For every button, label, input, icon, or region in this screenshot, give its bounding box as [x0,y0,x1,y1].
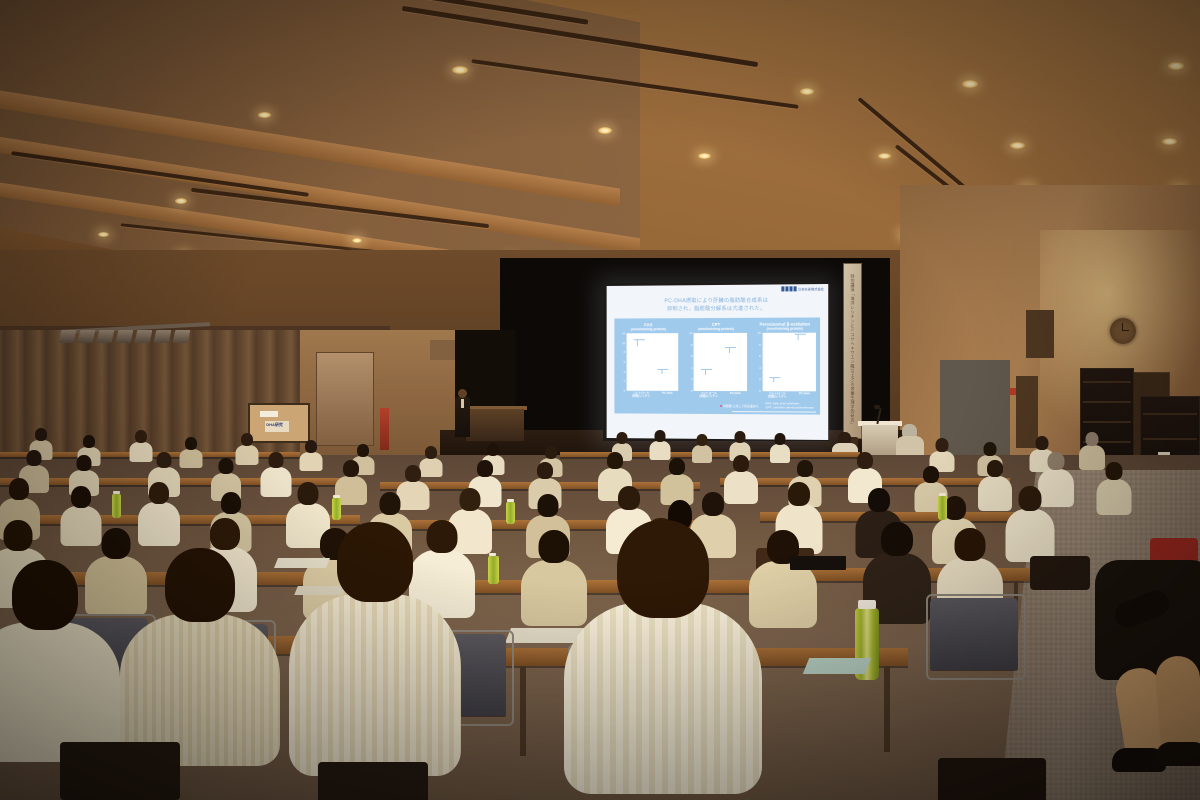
x-label-pcdha: PC-DHA [662,392,673,398]
water-bottle [938,496,947,520]
floor-bag [1030,556,1090,590]
chart-row: FAS (nmol/min/mg protein) 12 10 8 6 4 2 … [618,322,816,399]
downlight [598,127,612,134]
bottle-cap [489,553,496,556]
bar-pcdha [725,350,742,391]
chart-fas: FAS (nmol/min/mg protein) 12 10 8 6 4 2 … [618,322,678,398]
handout-paper-green [803,658,871,674]
plot-area: 12 10 8 6 4 2 0 [618,333,678,391]
downlight [1168,62,1184,70]
floor-bag [938,758,1046,800]
attendee-head [12,560,78,630]
y-tick: 6 [624,360,626,364]
attendee-head [9,478,29,500]
x-label-control: コントロール (対照)レシチン [632,392,650,398]
attendee-foreground-second [130,548,270,763]
y-tick: 0 [691,389,693,393]
attendee-head [425,446,437,459]
attendee-foreground-left [0,560,110,760]
y-axis: 12 10 8 6 4 2 0 [618,333,626,390]
attendee-head [797,460,813,477]
attendee [662,458,692,504]
slide-footnote: FAS, fatty acid synthase; CPT, carnitine… [765,401,814,409]
attendee [1008,486,1052,560]
error-stem [661,370,662,375]
plot-canvas [762,333,816,392]
y-tick: 0 [759,389,761,393]
x-label-sub: (対照)レシチン [632,395,650,398]
attendee-head [545,446,557,459]
attendee-head [669,458,685,475]
plot-area: 10 8 6 4 2 0 [685,333,746,391]
attendee-head [702,492,724,516]
attendee-head [221,492,241,514]
projection-screen: 日本水産株式会社 PC-DHA摂取により肝臓の脂肪酸合成系は 抑制され、脂肪酸分… [603,283,829,441]
footnote-line2: CPT, carnitine palmitoyltransferase [765,405,814,409]
attendee-head [735,431,746,443]
attendee-head [733,455,749,472]
presenter [455,389,470,437]
chart-cpt: CPT (nmol/min/mg protein) 10 8 6 4 2 0 [685,322,746,399]
downlight [878,153,891,159]
attendee-head [857,452,873,469]
error-stem [705,370,706,375]
y-tick: 10 [689,331,692,335]
attendee-head [343,460,359,477]
chair-frame [926,594,1026,680]
downlight [962,80,978,88]
attendee-head [77,455,92,471]
x-axis-labels: コントロール (対照)レシチン PC-DHA [618,392,678,399]
side-door [316,352,374,446]
bar-control [701,372,718,391]
attendee-torso [180,449,203,468]
lectern [466,409,524,441]
attendee-head [102,528,131,559]
attendee-head [357,444,369,457]
attendee-head [405,465,421,482]
attendee-head [539,530,570,563]
error-cap [770,377,781,378]
attendee-head [477,460,493,477]
attendee [770,433,790,462]
attendee-torso [261,467,292,497]
downlight [452,66,468,74]
x-axis-labels: コントロール (対照)レシチン PC-DHA [685,392,746,399]
error-stem [773,378,774,382]
error-cap [725,346,736,347]
attendee [300,440,322,470]
attendee-head [219,458,234,474]
slide-surface: 日本水産株式会社 PC-DHA摂取により肝臓の脂肪酸合成系は 抑制され、脂肪酸分… [607,284,829,440]
significance-marker-icon [720,405,722,407]
attendee-head [984,442,997,456]
y-axis: 10 8 6 4 2 0 [754,333,762,391]
y-tick: 2 [691,377,693,381]
spotlight-fixture [97,330,115,343]
chart-peroxisomal: Peroxisomal β-oxidation (nmol/min/mg pro… [754,322,816,399]
attendee-head [4,520,33,551]
attendee-head [460,488,481,511]
table-leg [884,666,890,752]
y-tick: 4 [691,366,693,370]
downlight [800,88,814,95]
attendee-torso [289,594,461,776]
error-cap [701,369,712,370]
attendee-torso [564,602,762,794]
water-bottle [112,494,121,518]
attendee-head [1048,452,1065,470]
attendee-head [337,522,413,602]
water-bottle [332,498,341,520]
water-bottle [506,502,515,524]
downlight [175,198,187,204]
y-tick: 10 [622,341,625,345]
downlight [698,153,711,159]
attendee-foreground-center [578,520,748,790]
shoe-icon [1156,742,1200,766]
error-stem [637,340,638,346]
bar-pcdha [657,372,674,391]
attendee-head [617,520,709,618]
attendee-head [157,452,172,468]
plot-area: 10 8 6 4 2 0 [754,333,816,392]
chart-subtitle: (nmol/min/mg protein) [754,327,816,331]
attendee-head [987,460,1003,477]
slide-logo: 日本水産株式会社 [782,286,824,291]
attendee [980,460,1010,510]
spotlight-fixture [173,330,191,343]
attendee-torso [978,476,1012,511]
monitor-label: DHA研究 [266,422,283,428]
error-stem [729,347,730,353]
attendee-head [241,433,253,446]
attendee-head [185,437,197,450]
bottle-cap [113,491,120,494]
error-stem [798,334,799,339]
y-tick: 4 [759,366,761,370]
y-axis: 10 8 6 4 2 0 [685,333,693,391]
attendee-head [269,452,284,468]
presenter-head [458,389,467,398]
chart-subtitle: (nmol/min/mg protein) [618,327,678,331]
attendee-head [881,522,913,556]
banner-text: 特別講演「海洋レシチンとドコサヘキサエン酸(DHA)の栄養生理学的研究」 [850,274,856,427]
plot-canvas [693,333,746,391]
y-tick: 6 [759,354,761,358]
slide-significance-note: 対照群 に対して有意差あり [720,404,759,408]
attendee-torso [0,622,120,762]
attendee-foreground-third [300,522,450,772]
attendee-head [380,492,401,515]
presenter-shirt [461,399,464,408]
attendee-head [487,443,499,456]
attendee-head [1086,432,1099,446]
bottle-cap [858,600,876,609]
attendee-head [298,482,319,505]
y-tick: 6 [691,354,693,358]
attendee-head [923,466,939,483]
bottle-cap [333,495,340,498]
downlight [258,112,271,118]
y-tick: 4 [624,370,626,374]
downlight [1010,142,1025,149]
attendee [650,430,670,460]
attendee [140,482,178,544]
attendee-head [71,486,91,508]
attendee-torso [1006,509,1055,562]
attendee-head [955,528,986,561]
spotlight-fixture [154,330,172,343]
water-bottle [488,556,499,584]
slide-chart-panel: FAS (nmol/min/mg protein) 12 10 8 6 4 2 … [614,317,820,414]
attendee-head [537,462,553,479]
bar-pcdha [794,337,811,392]
laser-pointer-line [732,412,815,413]
slide-logo-text: 日本水産株式会社 [798,287,824,291]
microphone-icon [874,405,880,409]
bottle-cap [939,493,946,496]
red-flag-banner [380,408,389,450]
attendee-torso [138,502,180,546]
attendee-head [538,494,559,517]
y-tick: 12 [622,331,625,335]
y-tick: 2 [624,379,626,383]
attendee-head [944,496,966,520]
x-label-sub: (対照)レシチン [768,395,787,398]
attendee-head [27,450,42,466]
spotlight-track [60,330,205,344]
x-label-control: コントロール (対照)レシチン [768,392,787,399]
spotlight-fixture [135,330,153,343]
attendee-head [210,518,240,550]
error-cap [634,339,645,340]
spotlight-fixture [59,330,77,343]
spotlight-fixture [78,330,96,343]
attendee-head [655,430,666,442]
downlight [1162,138,1177,145]
y-tick: 10 [758,331,761,335]
attendee-head [618,486,640,510]
bottle-cap [507,499,514,502]
slide-note-text: 対照群 に対して有意差あり [723,404,759,408]
slide-title: PC-DHA摂取により肝臓の脂肪酸合成系は 抑制され、脂肪酸分解系は亢進された。 [607,296,829,313]
y-tick: 2 [759,377,761,381]
conference-room-photo: DHA研究 日本水産株式会社 PC-DHA摂取により肝臓の脂肪酸合成系は 抑制さ… [0,0,1200,800]
bar-control [769,381,786,392]
floor-bag [318,762,428,800]
attendee-torso [692,445,712,463]
attendee-torso [300,452,323,471]
wall-box [430,340,456,360]
downlight [352,238,362,243]
attendee [692,434,712,462]
attendee [262,452,290,496]
attendee-head [1106,462,1123,480]
y-tick: 8 [691,343,693,347]
y-tick: 0 [624,389,626,393]
plot-canvas [626,333,678,391]
attendee-head [135,430,147,443]
attendee [336,460,366,504]
attendee-torso [770,444,790,463]
attendee-head [936,438,949,452]
wall-vent-panel [1026,310,1054,358]
y-tick: 8 [759,342,761,346]
attendee-head [607,452,623,469]
y-tick: 8 [624,350,626,354]
spotlight-fixture [116,330,134,343]
attendee [130,430,152,462]
attendee [524,530,584,624]
downlight [98,232,109,237]
attendee-head [617,432,628,444]
attendee-head [868,488,890,512]
laptop [790,556,846,570]
attendee-head [35,428,47,441]
attendee-head [165,548,235,622]
attendee-head [149,482,169,504]
attendee [1098,462,1130,514]
attendee-head [788,482,810,506]
x-axis-labels: コントロール (対照)レシチン PC-DHA [754,392,816,399]
x-label-pcdha: PC-DHA [799,392,810,399]
attendee-head [305,440,317,453]
attendee-head [83,435,95,448]
x-label-pcdha: PC-DHA [730,392,741,398]
bar-control [633,343,650,391]
attendee-torso [1097,479,1132,515]
error-cap [657,369,668,370]
attendee [180,437,202,467]
wall-clock-icon [1110,318,1136,344]
table-leg [520,666,526,756]
attendee [752,530,814,626]
attendee-head [697,434,708,446]
floor-bag [60,742,180,800]
vertical-banner: 特別講演「海洋レシチンとドコサヘキサエン酸(DHA)の栄養生理学的研究」 [843,263,862,439]
x-label-sub: (対照)レシチン [699,395,718,398]
attendee-torso [749,561,817,628]
error-cap [794,333,805,334]
monitor-slide-band [260,411,277,417]
slide-title-line2: 抑制され、脂肪酸分解系は亢進された。 [607,304,829,313]
chart-subtitle: (nmol/min/mg protein) [685,327,746,331]
attendee-head [1036,436,1049,450]
x-label-control: コントロール (対照)レシチン [699,392,718,398]
attendee-head [775,433,786,445]
attendee-head [1019,486,1042,511]
secondary-monitor-screen: DHA研究 [250,405,308,441]
